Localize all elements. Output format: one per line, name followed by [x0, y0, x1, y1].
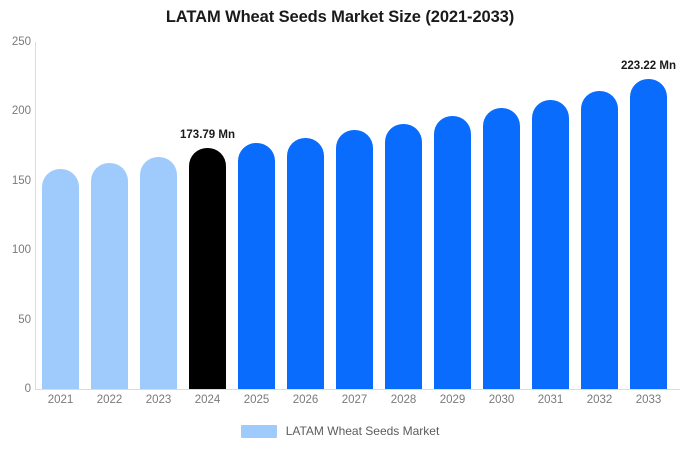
bar[interactable] — [336, 130, 373, 389]
bar-value-label: 173.79 Mn — [180, 129, 235, 141]
bar[interactable] — [42, 169, 79, 389]
y-axis-tick: 0 — [0, 389, 31, 390]
x-axis-tick-label: 2021 — [36, 394, 85, 406]
legend-swatch-icon — [241, 425, 277, 438]
x-axis-tick-label: 2028 — [379, 394, 428, 406]
y-axis-tick-label: 0 — [1, 383, 31, 395]
x-axis-tick-label: 2026 — [281, 394, 330, 406]
legend-item-label: LATAM Wheat Seeds Market — [286, 424, 440, 438]
x-axis-tick-label: 2027 — [330, 394, 379, 406]
x-axis-tick-label: 2030 — [477, 394, 526, 406]
bar-value-label: 223.22 Mn — [621, 60, 676, 72]
bar[interactable] — [532, 100, 569, 389]
bar[interactable] — [287, 138, 324, 389]
bar[interactable] — [385, 124, 422, 389]
bar[interactable] — [483, 108, 520, 389]
bar[interactable] — [140, 157, 177, 389]
bar[interactable] — [581, 91, 618, 389]
bar[interactable] — [238, 143, 275, 389]
market-size-bar-chart: LATAM Wheat Seeds Market Size (2021-2033… — [0, 0, 680, 450]
bar[interactable] — [630, 79, 667, 389]
y-axis-tick: 150 — [0, 181, 31, 182]
y-axis-tick: 200 — [0, 111, 31, 112]
y-axis-line — [35, 42, 36, 389]
x-axis-tick-label: 2023 — [134, 394, 183, 406]
x-axis-tick-label: 2022 — [85, 394, 134, 406]
y-axis-tick-label: 50 — [1, 314, 31, 326]
x-axis-tick-label: 2029 — [428, 394, 477, 406]
x-axis-line — [35, 389, 680, 390]
y-axis-tick-label: 150 — [1, 175, 31, 187]
y-axis-tick: 50 — [0, 320, 31, 321]
x-axis-tick-label: 2025 — [232, 394, 281, 406]
bar[interactable] — [189, 148, 226, 389]
x-axis-tick-label: 2032 — [575, 394, 624, 406]
x-axis-tick-label: 2024 — [183, 394, 232, 406]
y-axis-tick: 100 — [0, 250, 31, 251]
chart-legend: LATAM Wheat Seeds Market — [0, 424, 680, 438]
bar[interactable] — [91, 163, 128, 389]
plot-area: 050100150200250 202120222023202420252026… — [0, 0, 680, 450]
y-axis-tick-label: 250 — [1, 36, 31, 48]
bar[interactable] — [434, 116, 471, 389]
y-axis-tick-label: 100 — [1, 244, 31, 256]
x-axis-tick-label: 2031 — [526, 394, 575, 406]
y-axis-tick: 250 — [0, 42, 31, 43]
x-axis-tick-label: 2033 — [624, 394, 673, 406]
y-axis-tick-label: 200 — [1, 105, 31, 117]
